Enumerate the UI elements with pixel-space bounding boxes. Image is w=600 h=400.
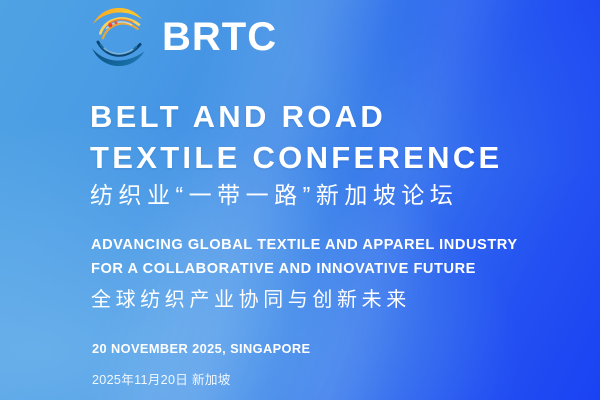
brtc-globe-logo-icon: [88, 6, 150, 68]
brand-lockup: BRTC: [88, 6, 277, 68]
page-title: BELT AND ROAD TEXTILE CONFERENCE: [90, 96, 502, 178]
brand-name: BRTC: [162, 17, 277, 57]
tagline-line-1: ADVANCING GLOBAL TEXTILE AND APPAREL IND…: [91, 234, 518, 258]
conference-poster: BRTC BELT AND ROAD TEXTILE CONFERENCE 纺织…: [0, 0, 600, 400]
page-title-line-1: BELT AND ROAD: [90, 99, 386, 134]
page-title-line-2: TEXTILE CONFERENCE: [90, 137, 502, 178]
tagline: ADVANCING GLOBAL TEXTILE AND APPAREL IND…: [91, 234, 518, 281]
event-date-chinese: 2025年11月20日 新加坡: [92, 369, 231, 388]
page-title-chinese: 纺织业“一带一路”新加坡论坛: [90, 181, 458, 210]
tagline-chinese: 全球纺织产业协同与创新未来: [91, 288, 411, 313]
event-date-english: 20 NOVEMBER 2025, SINGAPORE: [92, 341, 310, 356]
tagline-line-2: FOR A COLLABORATIVE AND INNOVATIVE FUTUR…: [91, 258, 518, 282]
